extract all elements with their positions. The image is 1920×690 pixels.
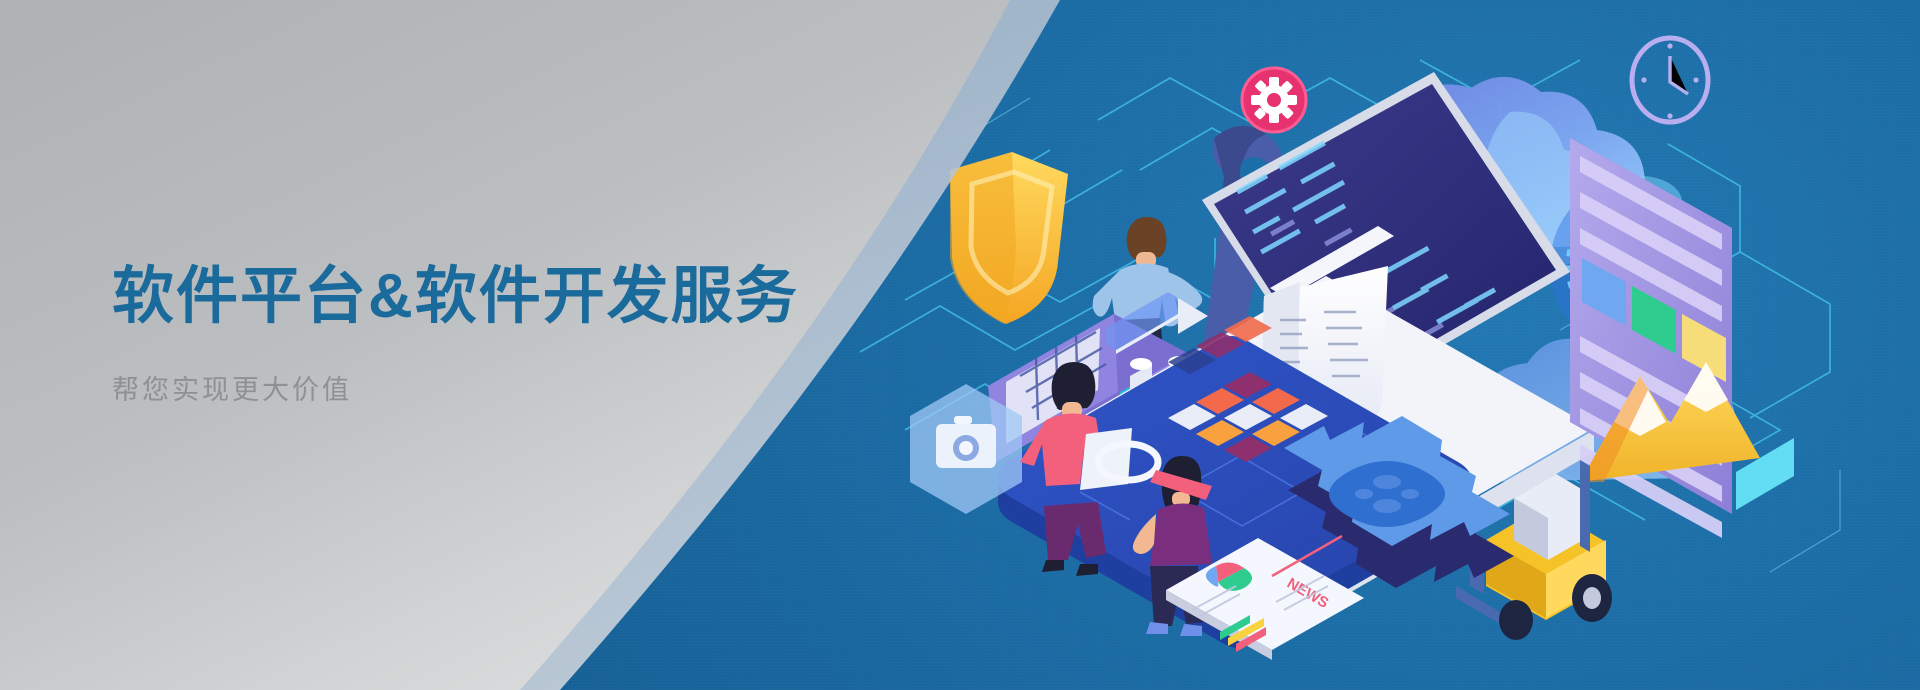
page-title: 软件平台&软件开发服务 (112, 262, 872, 331)
page-subtitle: 帮您实现更大价值 (112, 373, 872, 408)
hero-copy: 软件平台&软件开发服务 帮您实现更大价值 (112, 262, 872, 409)
hero-banner: NEWS 软件平台& (0, 0, 1920, 690)
